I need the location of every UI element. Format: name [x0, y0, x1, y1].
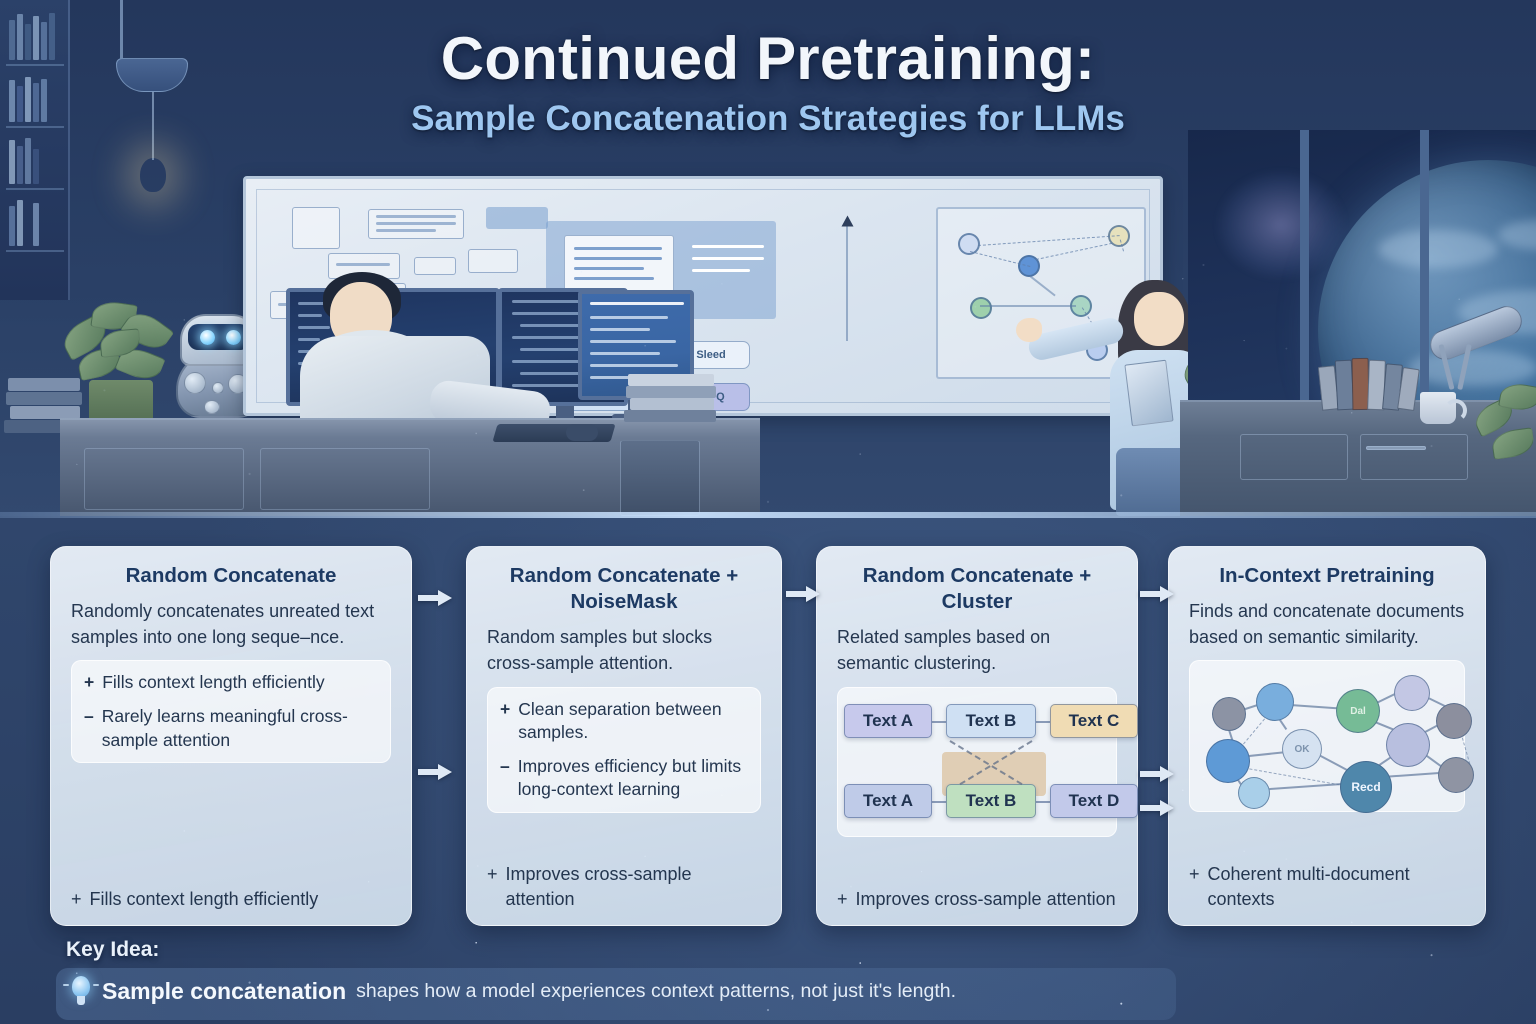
card-footnote: + Improves cross-sample attention: [837, 877, 1117, 911]
text-box-c: Text C: [1050, 704, 1138, 738]
bullet-text: Clean separation between samples.: [518, 698, 748, 745]
computer-tower: [620, 440, 700, 516]
text-box-a1: Text A: [844, 704, 932, 738]
card-random-concatenate[interactable]: Random Concatenate Randomly concatenates…: [50, 546, 412, 926]
bullet-sign: –: [500, 755, 510, 802]
robot-eye-left: [200, 330, 215, 345]
robot-eye-right: [226, 330, 241, 345]
text-box-label: Text B: [966, 711, 1017, 731]
graph-node-label: Dal: [1350, 706, 1366, 717]
coffee-mug: [1420, 392, 1456, 424]
title-block: Continued Pretraining: Sample Concatenat…: [0, 24, 1536, 139]
desk-book: [624, 410, 716, 422]
graph-node: [1436, 703, 1472, 739]
robot-side-dot: [184, 372, 206, 394]
text-box-b1: Text B: [946, 704, 1036, 738]
graph-node: [1212, 697, 1246, 731]
card-noisemask[interactable]: Random Concatenate + NoiseMask Random sa…: [466, 546, 782, 926]
graph-node: [1256, 683, 1294, 721]
bullet-sign: +: [71, 887, 82, 911]
plant-right: [1470, 382, 1536, 492]
bullet-text: Rarely learns meaningful cross-sample at…: [102, 705, 378, 752]
bullet-sign: –: [84, 705, 94, 752]
flow-arrow-icon: [1140, 800, 1174, 816]
card-title: Random Concatenate: [71, 563, 391, 589]
card-footnote: + Improves cross-sample attention: [487, 852, 761, 911]
similarity-graph: OK Dal Recd: [1189, 660, 1465, 812]
key-idea-row: Sample concatenation shapes how a model …: [70, 976, 956, 1006]
card-cluster[interactable]: Random Concatenate + Cluster Related sam…: [816, 546, 1138, 926]
bullet-text: Coherent multi-document contexts: [1208, 862, 1465, 911]
bullet-item: + Clean separation between samples.: [500, 698, 748, 745]
card-title: In-Context Pretraining: [1189, 563, 1465, 589]
bullet-text: Improves cross-sample attention: [506, 862, 761, 911]
card-description: Random samples but slocks cross-sample a…: [487, 625, 761, 676]
text-box-label: Text A: [863, 711, 913, 731]
card-bullets: + Clean separation between samples. – Im…: [487, 687, 761, 814]
text-box-a2: Text A: [844, 784, 932, 818]
flow-arrow-icon: [786, 586, 820, 602]
page-title: Continued Pretraining:: [0, 24, 1536, 93]
graph-node: [1238, 777, 1270, 809]
bullet-text: Improves cross-sample attention: [856, 887, 1116, 911]
bullet-text: Fills context length efficiently: [90, 887, 319, 911]
card-description: Randomly concatenates unreated text samp…: [71, 599, 391, 650]
nebula: [1216, 170, 1346, 280]
graph-node: [1206, 739, 1250, 783]
text-box-label: Text A: [863, 791, 913, 811]
graph-node-dal: Dal: [1336, 689, 1380, 733]
text-box-label: Text D: [1069, 791, 1120, 811]
flow-arrow-icon: [418, 590, 452, 606]
card-description: Finds and concatenate documents based on…: [1189, 599, 1465, 650]
text-box-label: Text C: [1069, 711, 1120, 731]
hero-divider: [0, 512, 1536, 518]
text-box-d: Text D: [1050, 784, 1138, 818]
bullet-item: + Fills context length efficiently: [84, 671, 378, 695]
graph-node-label: Recd: [1351, 780, 1380, 794]
wb-sketch-box: [414, 257, 456, 275]
card-footnote: + Fills context length efficiently: [71, 877, 391, 911]
flow-arrow-icon: [1140, 766, 1174, 782]
desk-book: [630, 398, 714, 410]
book-stack-left: [8, 378, 80, 391]
key-idea-text: shapes how a model experiences context p…: [356, 980, 956, 1003]
graph-node: [1394, 675, 1430, 711]
book-stack-left: [6, 392, 82, 405]
card-title: Random Concatenate + Cluster: [837, 563, 1117, 615]
lightbulb-icon: [70, 976, 92, 1006]
graph-node: [1386, 723, 1430, 767]
robot-small-dot: [212, 382, 224, 394]
flow-arrow-icon: [418, 764, 452, 780]
presenter-face: [1134, 292, 1184, 346]
card-in-context-pretraining[interactable]: In-Context Pretraining Finds and concate…: [1168, 546, 1486, 926]
bullet-sign: +: [487, 862, 498, 911]
graph-node-recd: Recd: [1340, 761, 1392, 813]
key-idea-footer: Key Idea: Sample concatenation shapes ho…: [0, 938, 1536, 1024]
lamp-bulb: [140, 158, 166, 192]
bullet-item: – Rarely learns meaningful cross-sample …: [84, 705, 378, 752]
text-box-label: Text B: [966, 791, 1017, 811]
wb-pill-label: Sleed: [696, 349, 725, 361]
strategy-cards: Random Concatenate Randomly concatenates…: [0, 546, 1536, 936]
flow-arrow-icon: [1140, 586, 1174, 602]
key-idea-label: Key Idea:: [66, 938, 159, 962]
card-bullets: + Fills context length efficiently – Rar…: [71, 660, 391, 763]
presenter-folder: [1124, 360, 1173, 427]
bullet-sign: +: [1189, 862, 1200, 911]
text-box-b2: Text B: [946, 784, 1036, 818]
desk-book: [628, 374, 714, 386]
bullet-text: Improves efficiency but limits long-cont…: [518, 755, 748, 802]
card-title: Random Concatenate + NoiseMask: [487, 563, 761, 615]
presenter-hand: [1016, 318, 1042, 342]
bullet-item: – Improves efficiency but limits long-co…: [500, 755, 748, 802]
bullet-sign: +: [837, 887, 848, 911]
wb-sketch-box: [468, 249, 518, 273]
graph-node: [1438, 757, 1474, 793]
bullet-text: Fills context length efficiently: [102, 671, 324, 695]
card-description: Related samples based on semantic cluste…: [837, 625, 1117, 676]
mouse: [566, 424, 598, 441]
wb-sketch-box: [292, 207, 340, 249]
card-footnote: + Coherent multi-document contexts: [1189, 852, 1465, 911]
robot-chin-dot: [204, 400, 220, 414]
desk-book: [626, 386, 716, 398]
bullet-sign: +: [500, 698, 510, 745]
bullet-sign: +: [84, 671, 94, 695]
wb-graph-node: [970, 297, 992, 319]
graph-node-label: OK: [1295, 744, 1310, 755]
graph-node-ok: OK: [1282, 729, 1322, 769]
key-idea-emphasis: Sample concatenation: [102, 978, 346, 1005]
page-subtitle: Sample Concatenation Strategies for LLMs: [0, 99, 1536, 139]
infographic-page: Stasc d Sleed Text d Text Q: [0, 0, 1536, 1024]
cluster-diagram: Text A Text B Text C Text A Text B: [837, 687, 1117, 837]
